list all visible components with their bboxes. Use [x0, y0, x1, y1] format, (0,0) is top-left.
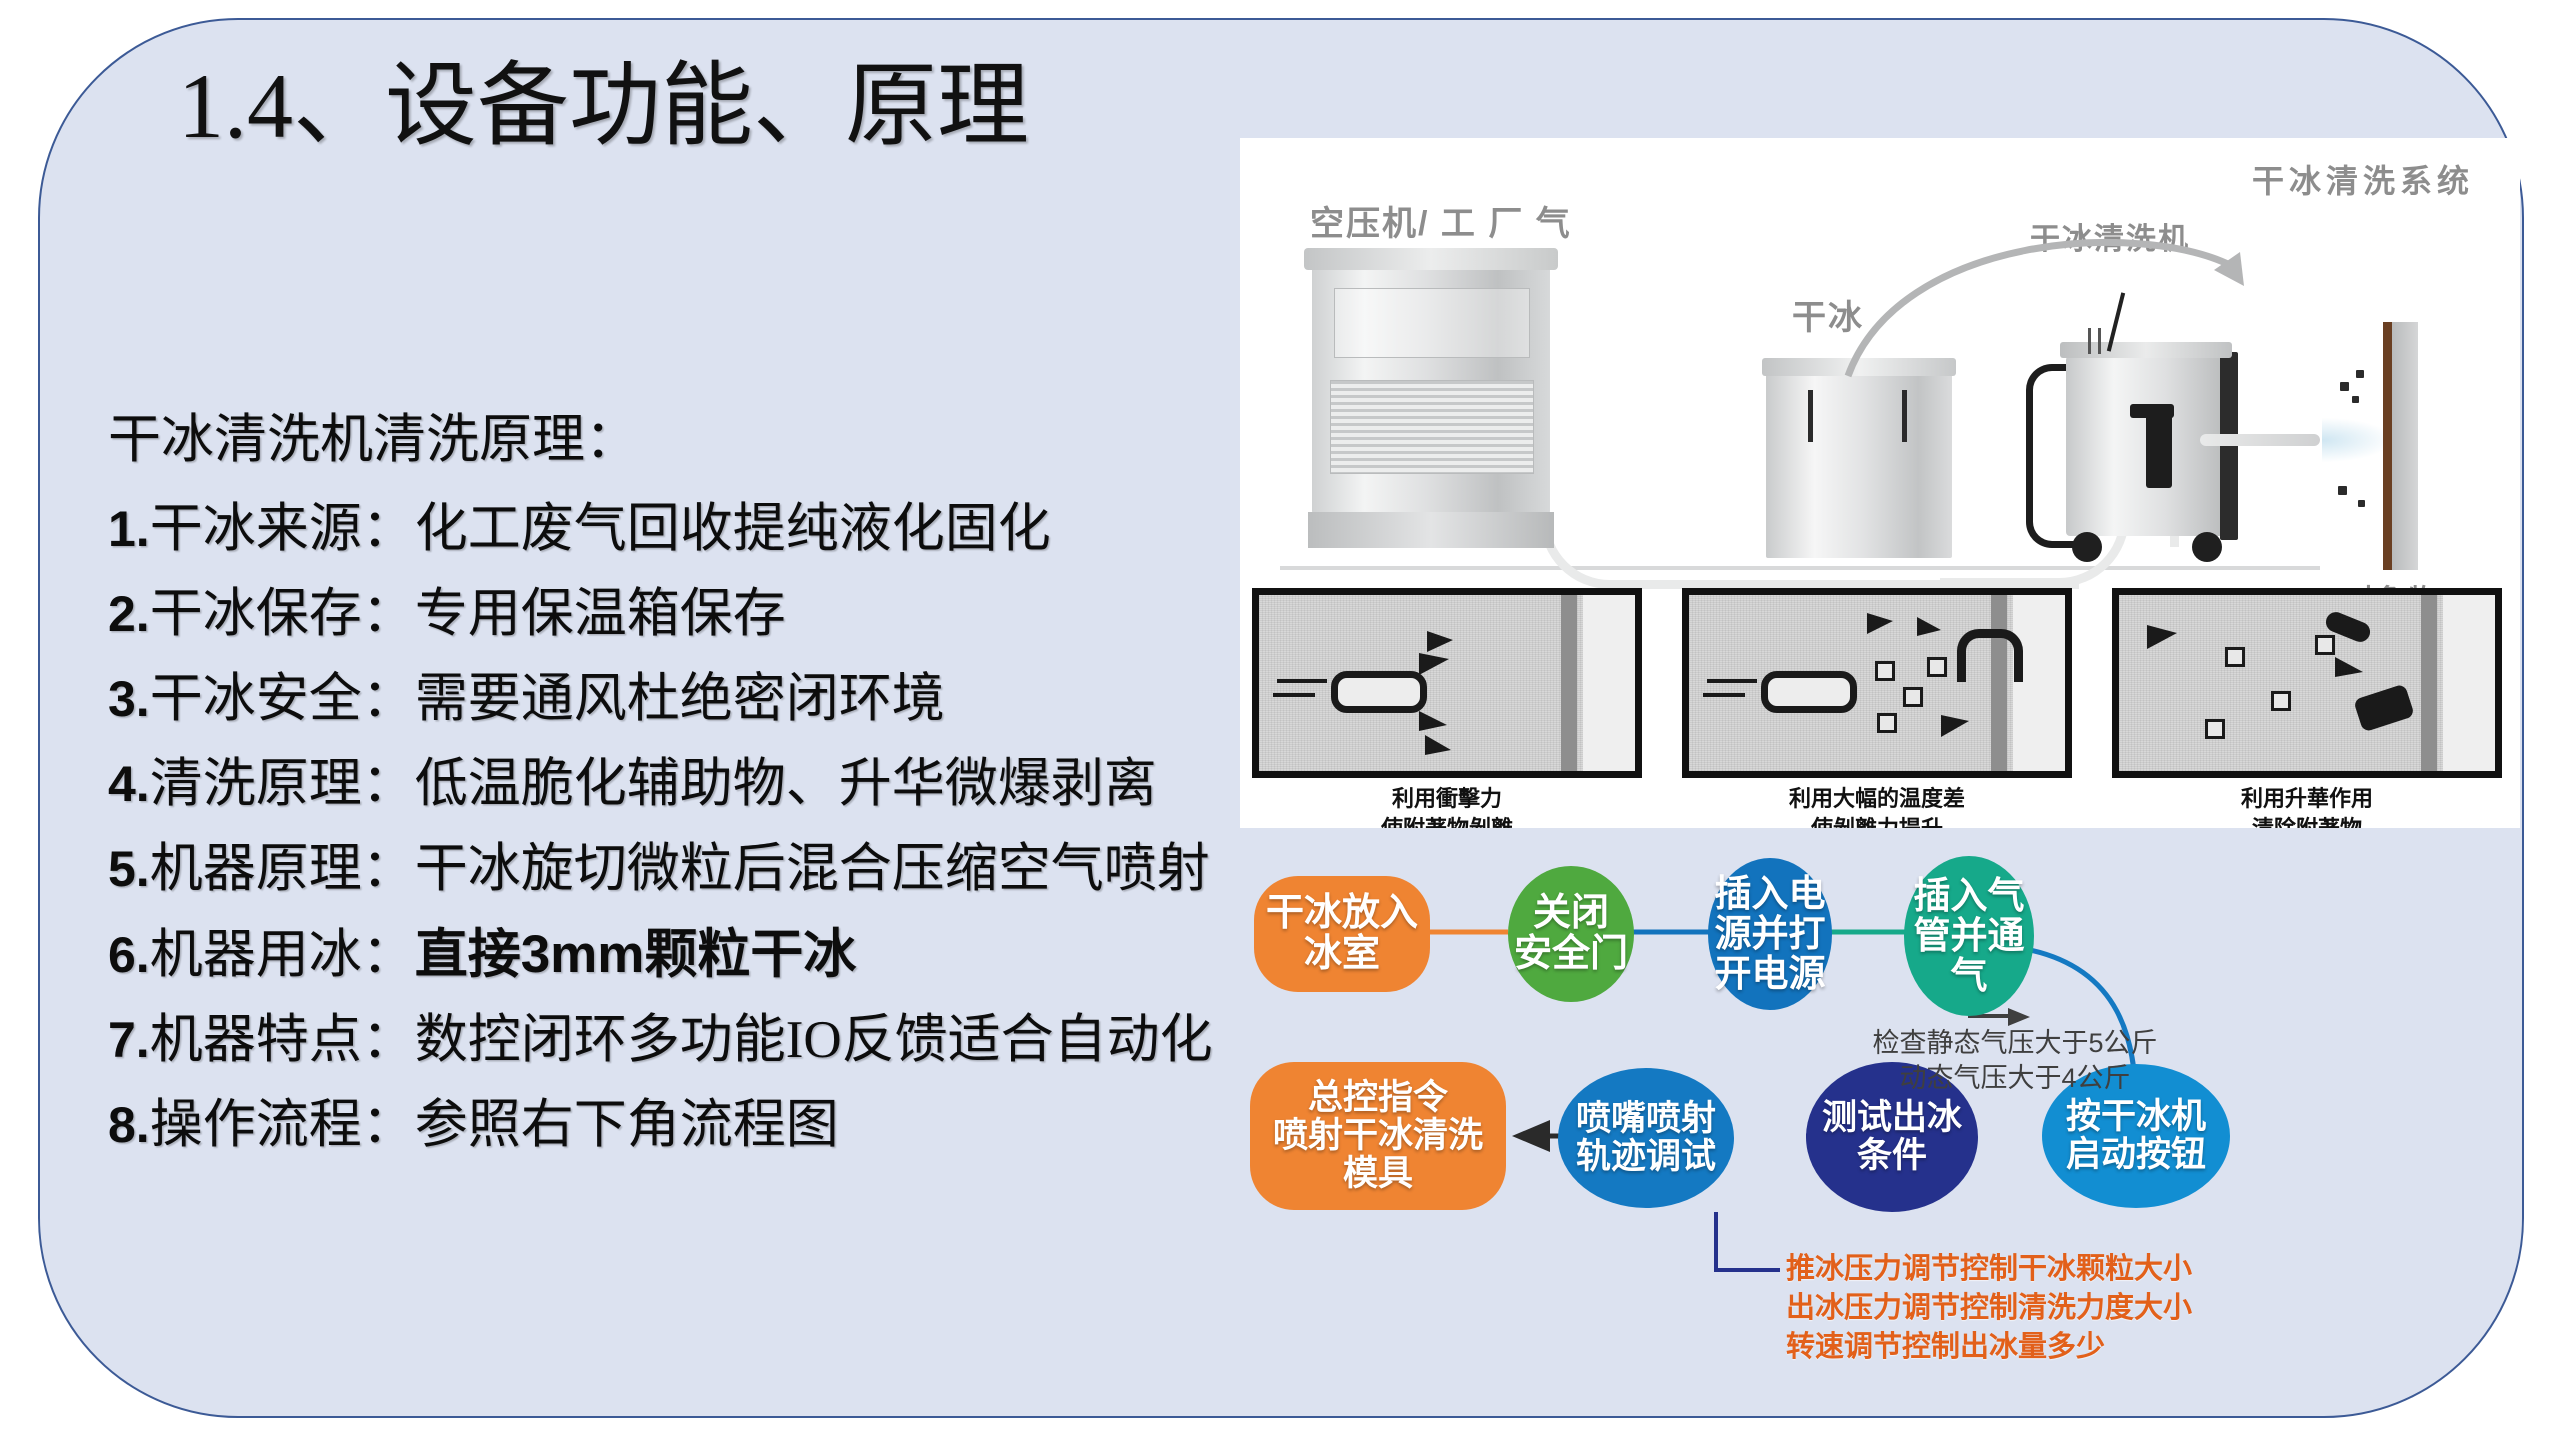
principles-list: 干冰清洗机清洗原理： 1.干冰来源：化工废气回收提纯液化固化 2.干冰保存：专用… — [108, 398, 1228, 1168]
list-item-number: 4. — [108, 756, 150, 812]
flow-node-3-label: 插入电源并打开电源 — [1715, 874, 1826, 994]
operation-flowchart: 干冰放入冰室 关闭安全门 插入电源并打开电源 插入气管并通气 检查静态气压大于5… — [1240, 840, 2540, 1420]
list-item: 1.干冰来源：化工废气回收提纯液化固化 — [108, 487, 1228, 572]
list-item-number: 1. — [108, 501, 150, 557]
list-item: 7.机器特点：数控闭环多功能IO反馈适合自动化 — [108, 998, 1228, 1083]
mechanism-panels: 利用衝擊力 使附著物剝離 利用大幅的温度差 使剝離力提升 利用升華作用 清除附著… — [1240, 588, 2520, 828]
air-compressor-icon — [1312, 264, 1550, 514]
list-item-label: 机器用冰： — [150, 926, 415, 984]
list-item-label: 机器原理： — [150, 840, 415, 898]
list-item: 6.机器用冰：直接3mm颗粒干冰 — [108, 912, 1228, 998]
list-item-label: 干冰保存： — [150, 585, 415, 643]
page-title: 1.4、设备功能、原理 — [178, 58, 1029, 155]
list-item-value: 化工废气回收提纯液化固化 — [415, 500, 1051, 558]
mechanism-caption: 利用大幅的温度差 使剝離力提升 — [1682, 784, 2072, 828]
flow-node-7[interactable]: 喷嘴喷射轨迹调试 — [1558, 1068, 1734, 1208]
caption-line-1: 利用升華作用 — [2112, 784, 2502, 814]
spray-gun-icon — [2146, 410, 2172, 488]
dry-ice-system-image: 空压机/ 工 厂 气 干冰 干冰清洗机 干冰清洗系统 对象物 — [1240, 138, 2520, 828]
flow-node-8[interactable]: 总控指令喷射干冰清洗模具 — [1250, 1062, 1506, 1210]
gas-pressure-annotation: 检查静态气压大于5公斤动态气压大于4公斤 — [1850, 1026, 2180, 1096]
list-item-number: 5. — [108, 841, 150, 897]
list-item: 4.清洗原理：低温脆化辅助物、升华微爆剥离 — [108, 742, 1228, 827]
flow-node-1-label: 干冰放入冰室 — [1266, 893, 1418, 975]
flow-node-6-label: 测试出冰条件 — [1822, 1099, 1962, 1175]
list-item-value: 参照右下角流程图 — [415, 1096, 839, 1154]
flow-node-1[interactable]: 干冰放入冰室 — [1254, 876, 1430, 992]
list-item: 2.干冰保存：专用保温箱保存 — [108, 572, 1228, 657]
gas-pressure-annotation-text: 检查静态气压大于5公斤动态气压大于4公斤 — [1872, 1028, 2157, 1093]
pressure-control-annotation: 推冰压力调节控制干冰颗粒大小出冰压力调节控制清洗力度大小转速调节控制出冰量多少 — [1786, 1250, 2406, 1367]
flow-node-3[interactable]: 插入电源并打开电源 — [1708, 858, 1832, 1010]
flow-node-5-label: 按干冰机启动按钮 — [2066, 1098, 2206, 1174]
list-item-number: 7. — [108, 1012, 150, 1068]
mechanism-caption: 利用衝擊力 使附著物剝離 — [1252, 784, 1642, 828]
list-item: 3.干冰安全：需要通风杜绝密闭环境 — [108, 657, 1228, 742]
list-item-label: 清洗原理： — [150, 755, 415, 813]
list-item: 8.操作流程：参照右下角流程图 — [108, 1083, 1228, 1168]
mechanism-panel-sublimation — [2112, 588, 2502, 778]
caption-line-2: 清除附著物 — [2112, 814, 2502, 828]
list-item-value: 直接3mm颗粒干冰 — [415, 925, 857, 984]
flow-node-7-label: 喷嘴喷射轨迹调试 — [1576, 1100, 1716, 1176]
list-item-label: 操作流程： — [150, 1096, 415, 1154]
list-item: 5.机器原理：干冰旋切微粒后混合压缩空气喷射 — [108, 827, 1228, 912]
nozzle-icon — [2200, 434, 2320, 446]
list-item-number: 3. — [108, 671, 150, 727]
mechanism-caption: 利用升華作用 清除附著物 — [2112, 784, 2502, 828]
flow-node-4-label: 插入气管并通气 — [1914, 876, 2025, 996]
wheel-icon — [2192, 532, 2222, 562]
list-item-number: 2. — [108, 586, 150, 642]
label-system: 干冰清洗系统 — [2252, 156, 2474, 202]
caption-line-1: 利用大幅的温度差 — [1682, 784, 2072, 814]
target-object-icon — [2392, 322, 2418, 570]
list-heading: 干冰清洗机清洗原理： — [108, 398, 1228, 483]
list-item-value: 数控闭环多功能IO反馈适合自动化 — [415, 1011, 1213, 1069]
dry-ice-container-icon — [1766, 370, 1952, 558]
caption-line-2: 使附著物剝離 — [1252, 814, 1642, 828]
mechanism-panel-temperature — [1682, 588, 2072, 778]
flow-node-2[interactable]: 关闭安全门 — [1508, 866, 1634, 1002]
caption-line-2: 使剝離力提升 — [1682, 814, 2072, 828]
wheel-icon — [2072, 532, 2102, 562]
list-item-value: 专用保温箱保存 — [415, 585, 786, 643]
list-item-label: 机器特点： — [150, 1011, 415, 1069]
label-compressor: 空压机/ 工 厂 气 — [1310, 196, 1572, 245]
list-item-label: 干冰安全： — [150, 670, 415, 728]
spray-plume-icon — [2322, 418, 2392, 462]
mechanism-panel-impact — [1252, 588, 1642, 778]
pressure-control-annotation-text: 推冰压力调节控制干冰颗粒大小出冰压力调节控制清洗力度大小转速调节控制出冰量多少 — [1786, 1253, 2192, 1363]
flow-node-8-label: 总控指令喷射干冰清洗模具 — [1273, 1079, 1483, 1192]
flow-node-4[interactable]: 插入气管并通气 — [1904, 856, 2034, 1016]
caption-line-1: 利用衝擊力 — [1252, 784, 1642, 814]
list-item-number: 6. — [108, 927, 150, 983]
slide-container: 1.4、设备功能、原理 干冰清洗机清洗原理： 1.干冰来源：化工废气回收提纯液化… — [38, 18, 2524, 1418]
list-item-number: 8. — [108, 1097, 150, 1153]
list-item-label: 干冰来源： — [150, 500, 415, 558]
list-item-value: 低温脆化辅助物、升华微爆剥离 — [415, 755, 1157, 813]
flow-node-2-label: 关闭安全门 — [1514, 893, 1628, 975]
list-item-value: 干冰旋切微粒后混合压缩空气喷射 — [415, 840, 1210, 898]
list-item-value: 需要通风杜绝密闭环境 — [415, 670, 945, 728]
